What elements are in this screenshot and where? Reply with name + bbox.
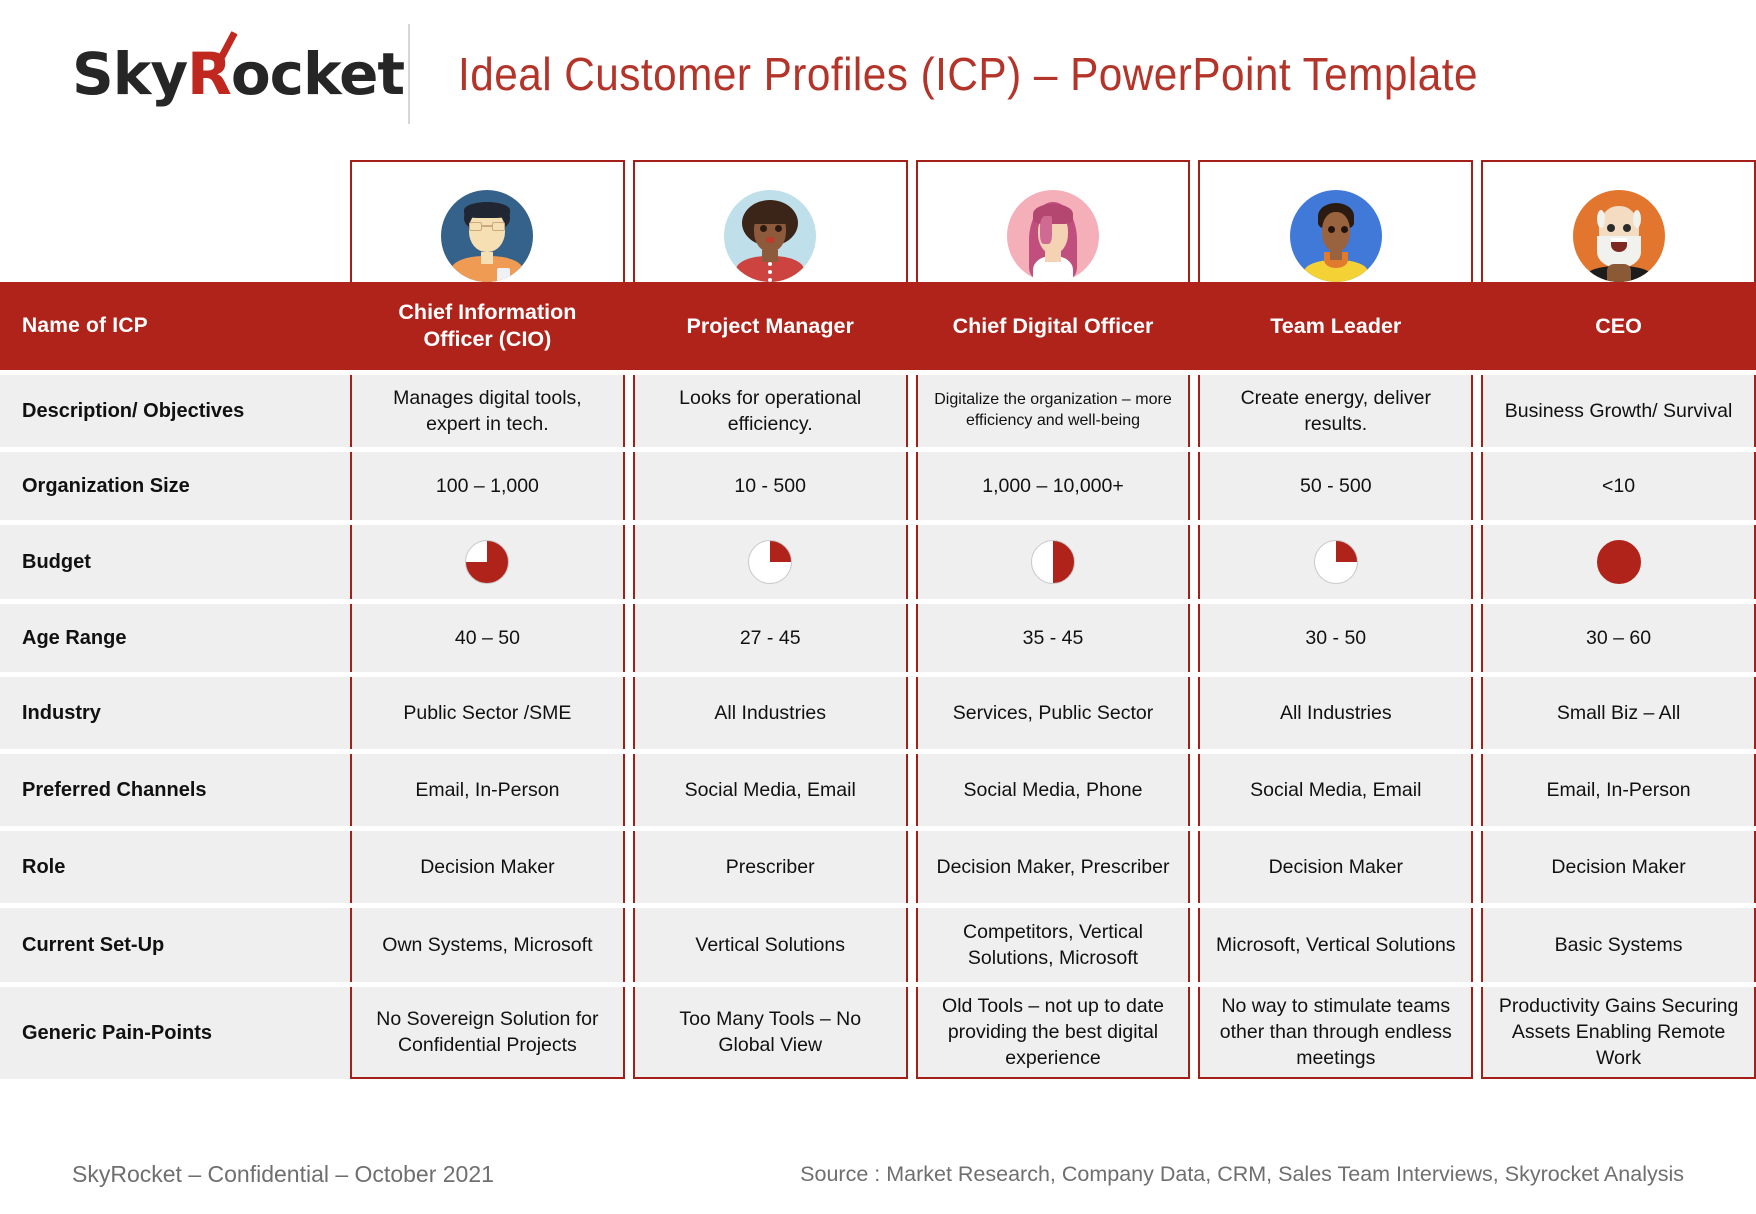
table-row: Budget <box>0 525 1756 599</box>
cell-organization-size-cio: 100 – 1,000 <box>350 452 625 520</box>
row-label-description: Description/ Objectives <box>0 375 350 447</box>
header-divider <box>408 24 410 124</box>
cell-organization-size-ceo: <10 <box>1481 452 1756 520</box>
cell-age-range-chief-digital-officer: 35 - 45 <box>916 604 1191 672</box>
table-row: Industry Public Sector /SME All Industri… <box>0 677 1756 749</box>
table-row: Generic Pain-Points No Sovereign Solutio… <box>0 987 1756 1079</box>
cell-preferred-channels-chief-digital-officer: Social Media, Phone <box>916 754 1191 826</box>
column-header-ceo: CEO <box>1481 282 1756 370</box>
cell-age-range-cio: 40 – 50 <box>350 604 625 672</box>
footer-source-text: Source : Market Research, Company Data, … <box>800 1162 1684 1187</box>
cell-organization-size-project-manager: 10 - 500 <box>633 452 908 520</box>
table-corner-label: Name of ICP <box>0 282 350 370</box>
cell-industry-ceo: Small Biz – All <box>1481 677 1756 749</box>
cell-description-project-manager: Looks for operational efficiency. <box>633 375 908 447</box>
slide-header: SkyRocket Ideal Customer Profiles (ICP) … <box>0 0 1756 148</box>
table-header-row: Name of ICP Chief Information Officer (C… <box>0 282 1756 370</box>
logo-text-ocket: ocket <box>231 40 404 108</box>
avatar-chief-digital-officer <box>1007 190 1099 282</box>
avatar-cell-ceo <box>1481 160 1756 282</box>
page-title: Ideal Customer Profiles (ICP) – PowerPoi… <box>458 47 1478 101</box>
footer-confidential-text: SkyRocket – Confidential – October 2021 <box>72 1161 494 1188</box>
row-label-age-range: Age Range <box>0 604 350 672</box>
icp-comparison-table: Name of ICP Chief Information Officer (C… <box>0 282 1756 1079</box>
cell-preferred-channels-cio: Email, In-Person <box>350 754 625 826</box>
avatar-project-manager <box>724 190 816 282</box>
row-label-role: Role <box>0 831 350 903</box>
persona-avatar-strip <box>0 160 1756 282</box>
row-label-industry: Industry <box>0 677 350 749</box>
cell-pain-points-project-manager: Too Many Tools – No Global View <box>633 987 908 1079</box>
row-label-generic-pain-points: Generic Pain-Points <box>0 987 350 1079</box>
avatar-ceo <box>1573 190 1665 282</box>
table-row: Age Range 40 – 50 27 - 45 35 - 45 30 - 5… <box>0 604 1756 672</box>
avatar-cell-cio <box>350 160 625 282</box>
column-header-cio: Chief Information Officer (CIO) <box>350 282 625 370</box>
avatar-cell-chief-digital-officer <box>916 160 1191 282</box>
cell-role-project-manager: Prescriber <box>633 831 908 903</box>
column-header-project-manager: Project Manager <box>633 282 908 370</box>
row-label-organization-size: Organization Size <box>0 452 350 520</box>
cell-preferred-channels-project-manager: Social Media, Email <box>633 754 908 826</box>
column-header-chief-digital-officer: Chief Digital Officer <box>916 282 1191 370</box>
table-row: Description/ Objectives Manages digital … <box>0 375 1756 447</box>
cell-pain-points-chief-digital-officer: Old Tools – not up to date providing the… <box>916 987 1191 1079</box>
cell-description-team-leader: Create energy, deliver results. <box>1198 375 1473 447</box>
cell-age-range-project-manager: 27 - 45 <box>633 604 908 672</box>
brand-logo: SkyRocket <box>0 0 400 148</box>
cell-industry-chief-digital-officer: Services, Public Sector <box>916 677 1191 749</box>
cell-pain-points-team-leader: No way to stimulate teams other than thr… <box>1198 987 1473 1079</box>
table-row: Current Set-Up Own Systems, Microsoft Ve… <box>0 908 1756 982</box>
cell-role-cio: Decision Maker <box>350 831 625 903</box>
cell-current-setup-ceo: Basic Systems <box>1481 908 1756 982</box>
cell-preferred-channels-team-leader: Social Media, Email <box>1198 754 1473 826</box>
cell-budget-project-manager <box>633 525 908 599</box>
cell-current-setup-team-leader: Microsoft, Vertical Solutions <box>1198 908 1473 982</box>
cell-industry-project-manager: All Industries <box>633 677 908 749</box>
cell-industry-cio: Public Sector /SME <box>350 677 625 749</box>
budget-pie-chart-cio <box>465 540 509 584</box>
avatar-strip-spacer <box>0 160 350 282</box>
table-row: Preferred Channels Email, In-Person Soci… <box>0 754 1756 826</box>
cell-age-range-team-leader: 30 - 50 <box>1198 604 1473 672</box>
cell-budget-ceo <box>1481 525 1756 599</box>
budget-pie-chart-project-manager <box>748 540 792 584</box>
cell-role-chief-digital-officer: Decision Maker, Prescriber <box>916 831 1191 903</box>
cell-description-chief-digital-officer: Digitalize the organization – more effic… <box>916 375 1191 447</box>
cell-pain-points-ceo: Productivity Gains Securing Assets Enabl… <box>1481 987 1756 1079</box>
cell-role-ceo: Decision Maker <box>1481 831 1756 903</box>
cell-budget-chief-digital-officer <box>916 525 1191 599</box>
table-row: Organization Size 100 – 1,000 10 - 500 1… <box>0 452 1756 520</box>
cell-current-setup-project-manager: Vertical Solutions <box>633 908 908 982</box>
logo-text-sky: Sky <box>72 40 187 108</box>
cell-budget-team-leader <box>1198 525 1473 599</box>
column-header-team-leader: Team Leader <box>1198 282 1473 370</box>
budget-pie-chart-team-leader <box>1314 540 1358 584</box>
avatar-cell-team-leader <box>1198 160 1473 282</box>
row-label-budget: Budget <box>0 525 350 599</box>
cell-description-cio: Manages digital tools, expert in tech. <box>350 375 625 447</box>
avatar-team-leader <box>1290 190 1382 282</box>
row-label-current-setup: Current Set-Up <box>0 908 350 982</box>
cell-organization-size-team-leader: 50 - 500 <box>1198 452 1473 520</box>
budget-pie-chart-chief-digital-officer <box>1031 540 1075 584</box>
table-row: Role Decision Maker Prescriber Decision … <box>0 831 1756 903</box>
cell-pain-points-cio: No Sovereign Solution for Confidential P… <box>350 987 625 1079</box>
cell-budget-cio <box>350 525 625 599</box>
cell-role-team-leader: Decision Maker <box>1198 831 1473 903</box>
row-label-preferred-channels: Preferred Channels <box>0 754 350 826</box>
avatar-cell-project-manager <box>633 160 908 282</box>
budget-pie-chart-ceo <box>1597 540 1641 584</box>
avatar-cio <box>441 190 533 282</box>
cell-description-ceo: Business Growth/ Survival <box>1481 375 1756 447</box>
cell-industry-team-leader: All Industries <box>1198 677 1473 749</box>
cell-age-range-ceo: 30 – 60 <box>1481 604 1756 672</box>
cell-current-setup-chief-digital-officer: Competitors, Vertical Solutions, Microso… <box>916 908 1191 982</box>
slide-footer: SkyRocket – Confidential – October 2021 … <box>0 1161 1756 1188</box>
cell-organization-size-chief-digital-officer: 1,000 – 10,000+ <box>916 452 1191 520</box>
cell-current-setup-cio: Own Systems, Microsoft <box>350 908 625 982</box>
cell-preferred-channels-ceo: Email, In-Person <box>1481 754 1756 826</box>
slide-root: SkyRocket Ideal Customer Profiles (ICP) … <box>0 0 1756 1214</box>
